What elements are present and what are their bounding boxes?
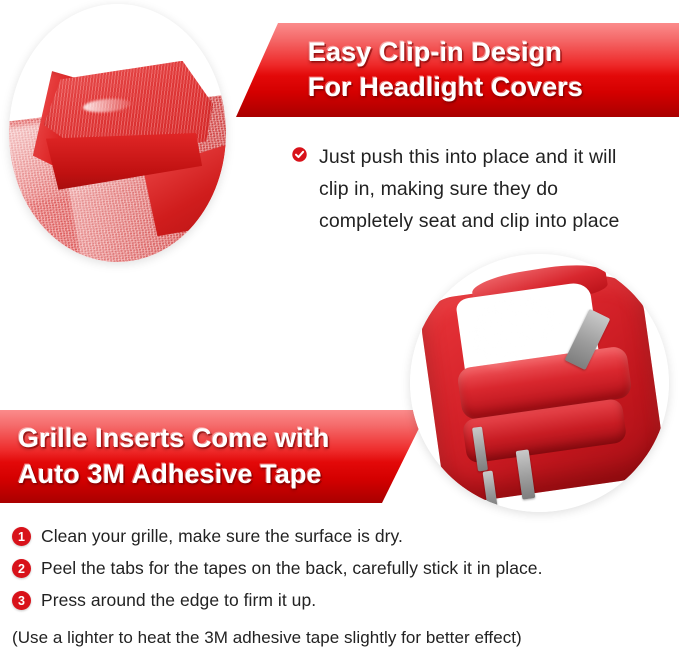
check-circle-icon	[290, 145, 309, 164]
infographic-canvas: Easy Clip-in Design For Headlight Covers…	[0, 0, 679, 660]
list-item: 3 Press around the edge to firm it up.	[12, 588, 672, 612]
clip-instruction-line3: completely seat and clip into place	[319, 205, 620, 237]
step-number-badge: 3	[12, 591, 31, 610]
step-number-badge: 1	[12, 527, 31, 546]
list-item: 1 Clean your grille, make sure the surfa…	[12, 524, 672, 548]
step-text: Clean your grille, make sure the surface…	[41, 524, 403, 548]
step-text: Peel the tabs for the tapes on the back,…	[41, 556, 543, 580]
step-number-badge: 2	[12, 559, 31, 578]
headlight-banner-line1: Easy Clip-in Design	[308, 35, 679, 70]
headlight-banner-line2: For Headlight Covers	[308, 70, 679, 105]
grille-insert-back-with-3m-tape-photo	[410, 254, 669, 512]
adhesive-banner-line1: Grille Inserts Come with	[18, 421, 428, 456]
red-clip-tab-on-grille-photo	[9, 4, 226, 262]
clip-instruction-note: Just push this into place and it will cl…	[290, 141, 679, 237]
adhesive-banner: Grille Inserts Come with Auto 3M Adhesiv…	[0, 410, 428, 503]
adhesive-banner-line2: Auto 3M Adhesive Tape	[18, 457, 428, 492]
footnote-text: (Use a lighter to heat the 3M adhesive t…	[12, 626, 672, 650]
photo-tape-inner	[410, 254, 669, 512]
clip-instruction-line1: Just push this into place and it will	[319, 141, 620, 173]
clip-instruction-line2: clip in, making sure they do	[319, 173, 620, 205]
list-item: 2 Peel the tabs for the tapes on the bac…	[12, 556, 672, 580]
photo-clip-inner	[9, 4, 226, 262]
headlight-banner: Easy Clip-in Design For Headlight Covers	[236, 23, 679, 117]
installation-steps-list: 1 Clean your grille, make sure the surfa…	[12, 524, 672, 620]
clip-instruction-text: Just push this into place and it will cl…	[319, 141, 620, 237]
step-text: Press around the edge to firm it up.	[41, 588, 316, 612]
